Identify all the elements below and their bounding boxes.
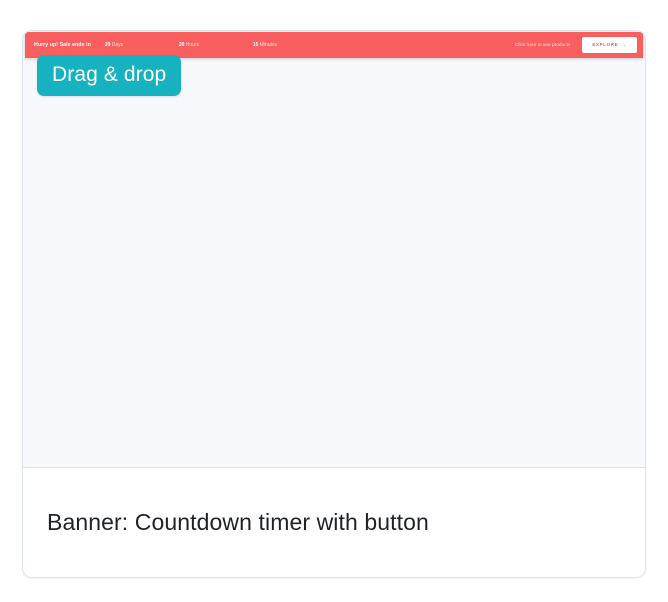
banner-cta-text: Click here to see products xyxy=(515,43,570,48)
arrow-right-icon: → xyxy=(621,43,627,48)
banner-headline: Hurry up! Sale ends in xyxy=(34,42,91,48)
caption-label: Banner: Countdown timer with button xyxy=(47,509,429,536)
component-card: Hurry up! Sale ends in 29 Days 20 Hours … xyxy=(22,30,646,578)
banner-preview-dropzone[interactable]: Hurry up! Sale ends in 29 Days 20 Hours … xyxy=(23,31,645,468)
countdown-days-value: 29 xyxy=(105,42,111,48)
countdown-unit-minutes: 15 Minutes xyxy=(253,42,327,48)
card-caption: Banner: Countdown timer with button xyxy=(23,468,645,577)
countdown-minutes-value: 15 xyxy=(253,42,259,48)
countdown-unit-days: 29 Days xyxy=(105,42,179,48)
explore-button-label: EXPLORE xyxy=(592,43,618,47)
countdown-days-label: Days xyxy=(112,42,123,48)
countdown-unit-hours: 20 Hours xyxy=(179,42,253,48)
countdown-hours-label: Hours xyxy=(186,42,199,48)
countdown-minutes-label: Minutes xyxy=(260,42,278,48)
countdown-timer: 29 Days 20 Hours 15 Minutes xyxy=(105,42,515,48)
screenshot-root: Hurry up! Sale ends in 29 Days 20 Hours … xyxy=(0,0,668,602)
explore-button[interactable]: EXPLORE → xyxy=(582,37,637,53)
countdown-hours-value: 20 xyxy=(179,42,185,48)
drag-and-drop-chip[interactable]: Drag & drop xyxy=(37,55,181,96)
